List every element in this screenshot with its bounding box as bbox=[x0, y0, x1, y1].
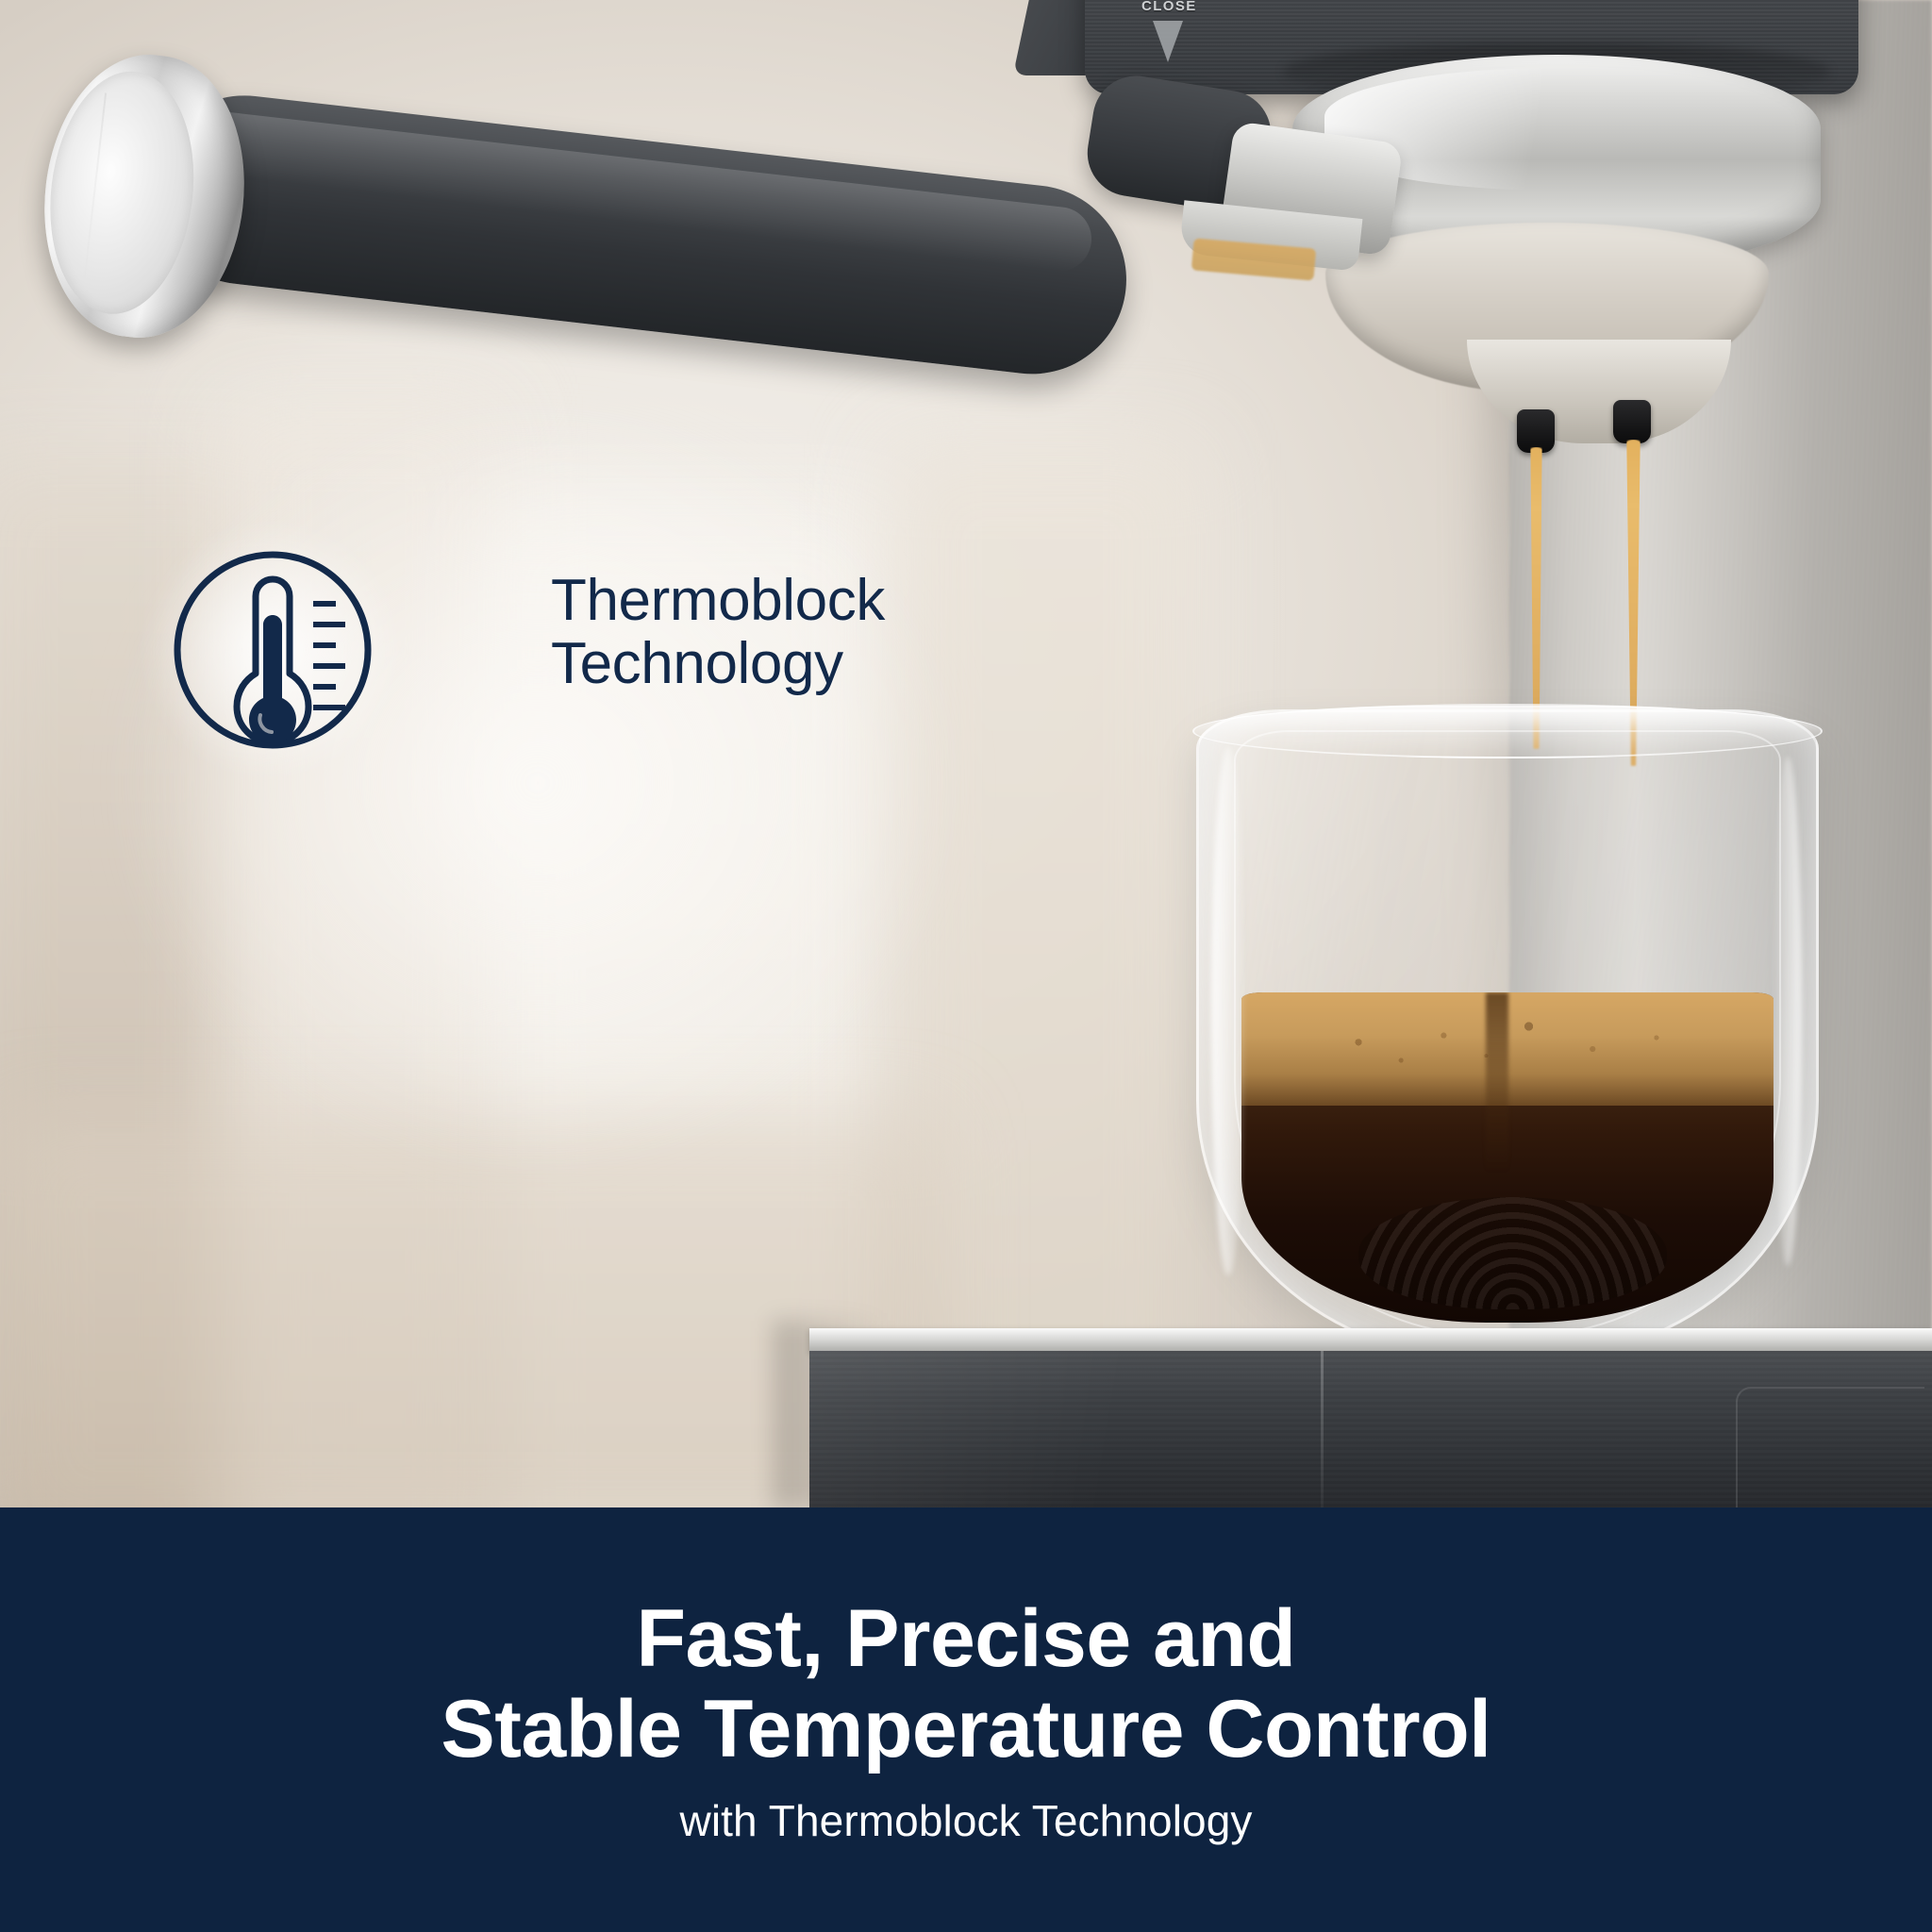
handle-chrome-cap bbox=[30, 44, 259, 348]
product-marketing-image: CLOSE bbox=[0, 0, 1932, 1932]
espresso-glass-cup bbox=[1196, 709, 1819, 1360]
espresso-liquid bbox=[1241, 992, 1774, 1323]
drip-tray-edge bbox=[1321, 1351, 1324, 1507]
glass-highlight-right bbox=[1774, 757, 1802, 1266]
crema-streak bbox=[1486, 992, 1508, 1172]
product-photo: CLOSE bbox=[0, 0, 1932, 1507]
handle-grip bbox=[141, 86, 1137, 384]
bottom-banner: Fast, Precise and Stable Temperature Con… bbox=[0, 1507, 1932, 1932]
coffee-swirl bbox=[1358, 1197, 1667, 1309]
drip-tray-chrome-rim bbox=[809, 1328, 1932, 1353]
espresso-spout bbox=[1517, 409, 1555, 453]
thermoblock-badge: Thermoblock Technology bbox=[170, 549, 1019, 775]
banner-headline: Fast, Precise and Stable Temperature Con… bbox=[441, 1593, 1491, 1775]
espresso-spout bbox=[1613, 400, 1651, 443]
banner-subheadline: with Thermoblock Technology bbox=[680, 1795, 1253, 1846]
glass-rim bbox=[1192, 704, 1823, 758]
close-label: CLOSE bbox=[1141, 0, 1197, 14]
drip-tray-notch bbox=[1736, 1387, 1924, 1507]
glass-highlight-left bbox=[1211, 747, 1245, 1275]
thermometer-in-circle-icon bbox=[170, 547, 375, 753]
handle-cap-face bbox=[38, 64, 206, 322]
badge-label: Thermoblock Technology bbox=[551, 570, 885, 696]
